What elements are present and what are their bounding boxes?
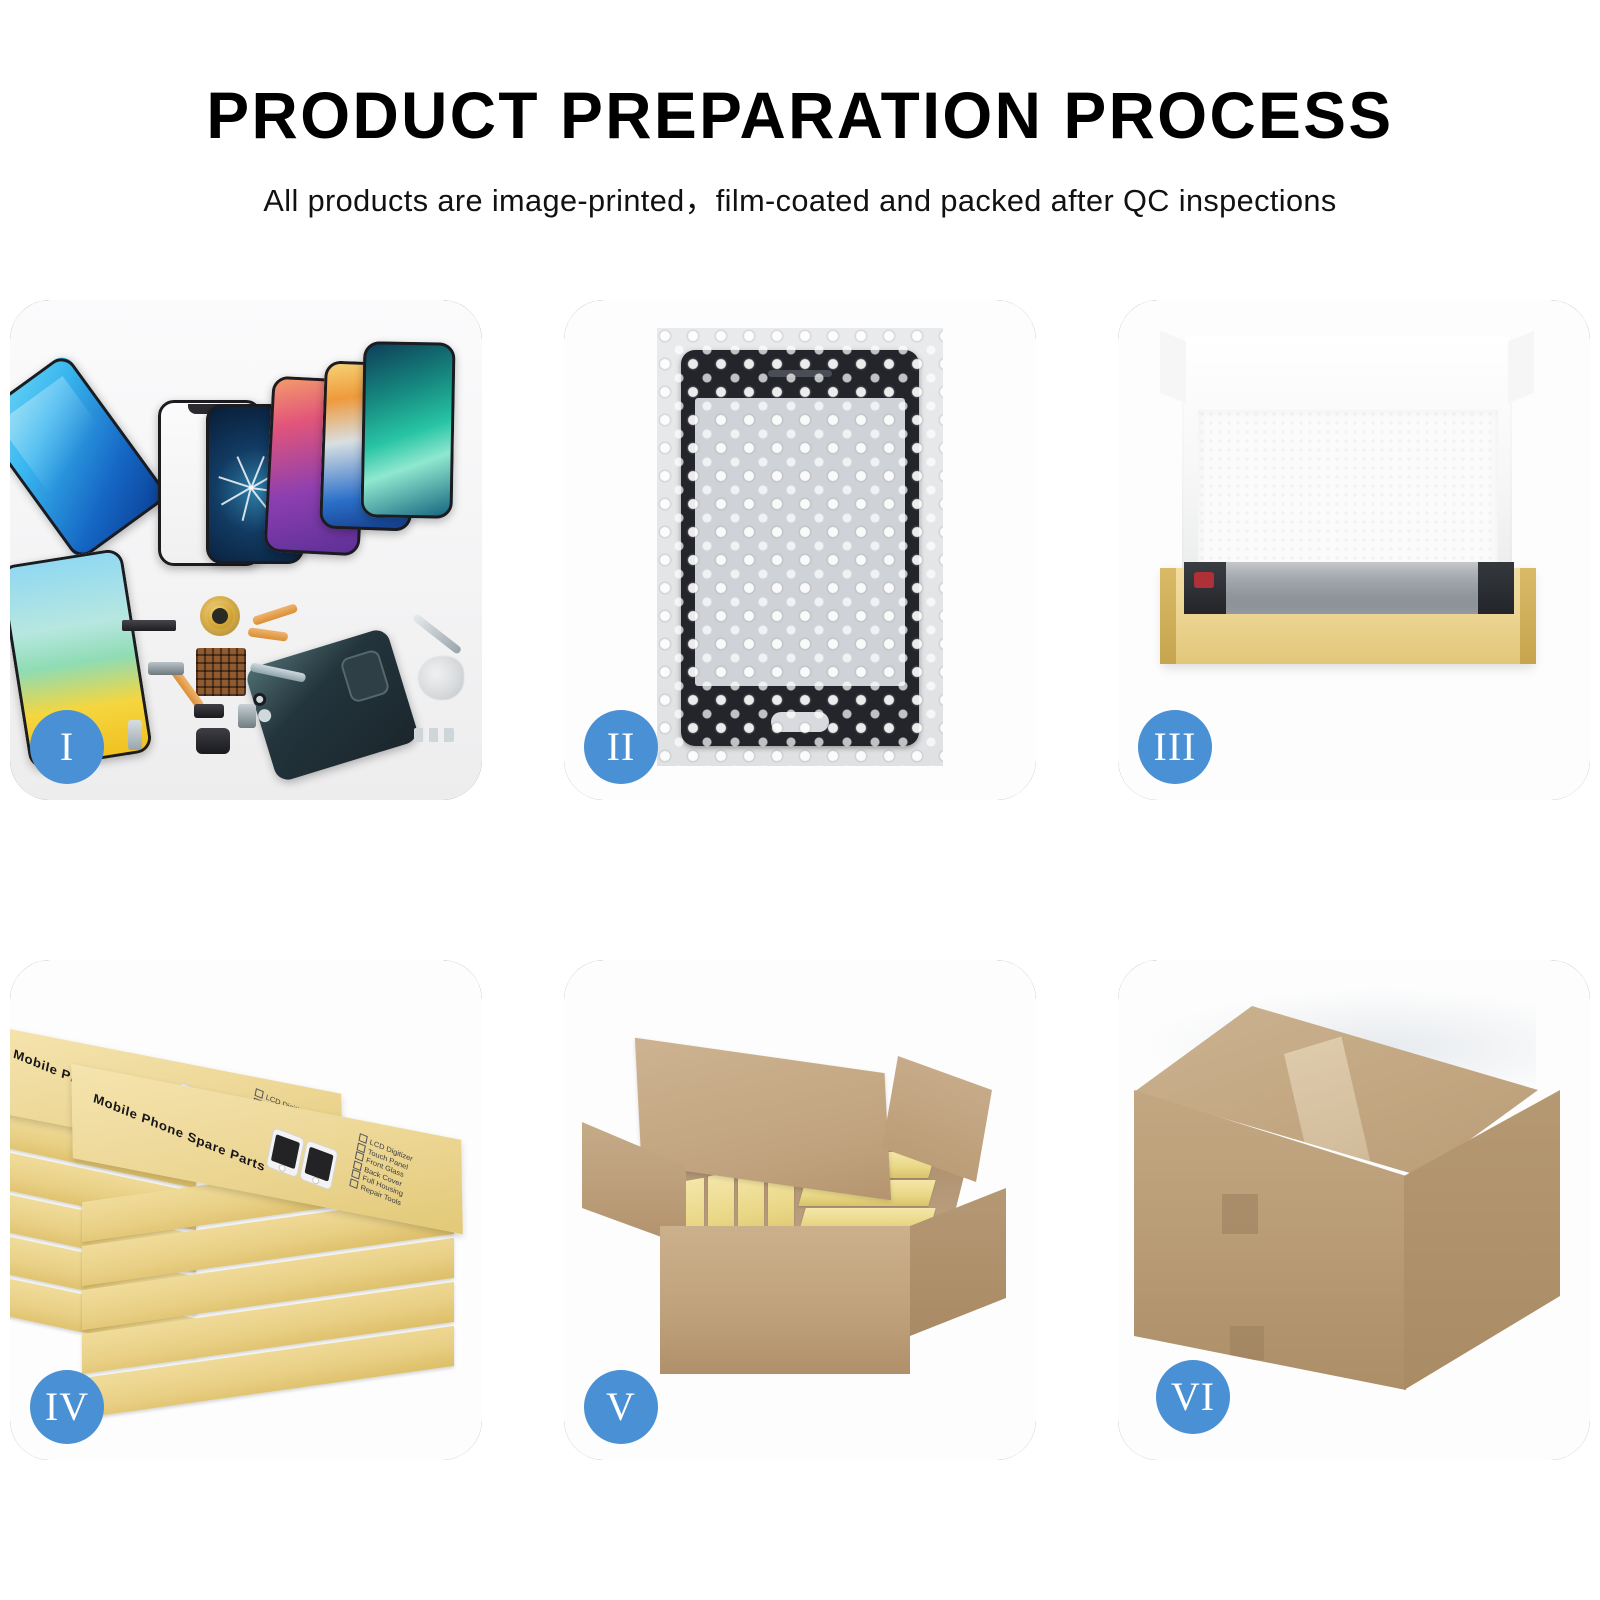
sim-tray xyxy=(128,720,142,750)
step-badge-3: III xyxy=(1138,710,1212,784)
page-title: PRODUCT PREPARATION PROCESS xyxy=(24,0,1576,148)
wireless-charging-coil xyxy=(200,596,240,636)
step-badge-1: I xyxy=(30,710,104,784)
step-badge-5: V xyxy=(584,1370,658,1444)
flex-cable-2 xyxy=(248,627,289,641)
screws-set xyxy=(414,728,454,742)
foam-padding xyxy=(1198,410,1498,572)
process-step-card-5: V xyxy=(564,960,1036,1460)
vibration-motor xyxy=(148,662,184,675)
bubble-wrap-texture xyxy=(657,328,943,766)
small-component-2 xyxy=(196,728,230,754)
label-phone-photo-a xyxy=(267,1128,304,1177)
carton-seam-patch-bottom xyxy=(1230,1326,1264,1360)
retail-label-photos-second xyxy=(267,1128,338,1189)
label-phone-photo-b xyxy=(300,1141,337,1190)
screen-connector xyxy=(1194,572,1214,588)
phone-back-housing xyxy=(244,627,420,783)
repair-tweezers xyxy=(412,613,463,655)
carton-seam-patch-top xyxy=(1222,1194,1258,1234)
phone-green-display xyxy=(360,341,455,519)
process-step-grid: I II xyxy=(10,300,1595,1440)
wrapped-screen-in-box xyxy=(1184,562,1514,614)
camera-module xyxy=(238,704,256,728)
process-step-card-3: III xyxy=(1118,300,1590,800)
retail-label-checklist-second: LCD Digitizer Touch Panel Front Glass Ba… xyxy=(349,1133,414,1209)
earpiece-speaker-part xyxy=(122,620,176,631)
process-step-card-1: I xyxy=(10,300,482,800)
retail-label-title-second: Mobile Phone Spare Parts xyxy=(92,1090,266,1174)
step-badge-4: IV xyxy=(30,1370,104,1444)
page-header: PRODUCT PREPARATION PROCESS All products… xyxy=(0,0,1600,250)
process-step-card-4: Mobile Phone Spare Parts LCD Digitizer T… xyxy=(10,960,482,1460)
carton-front-panel xyxy=(660,1226,910,1374)
bubble-wrap-sheet xyxy=(657,328,943,766)
step-badge-2: II xyxy=(584,710,658,784)
small-component-1 xyxy=(194,704,224,718)
cleaning-brush xyxy=(418,656,464,700)
step-badge-6: VI xyxy=(1156,1360,1230,1434)
flex-cable-1 xyxy=(252,603,299,626)
phone-display-blue xyxy=(10,352,170,562)
process-step-card-6: VI xyxy=(1118,960,1590,1460)
process-step-card-2: II xyxy=(564,300,1036,800)
ic-chip xyxy=(196,648,246,696)
page-subtitle: All products are image-printed，film-coat… xyxy=(8,148,1592,220)
